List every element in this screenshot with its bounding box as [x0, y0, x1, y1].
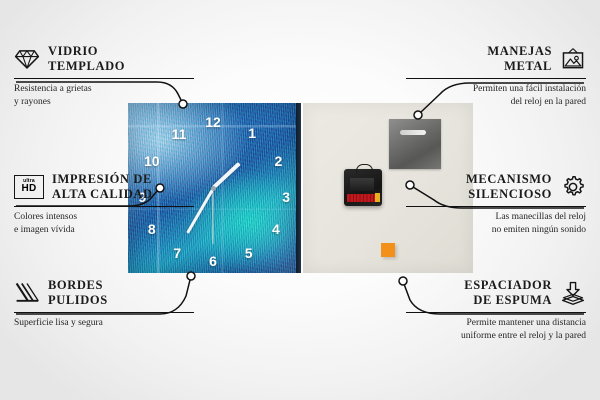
feature-title-line1: IMPRESIÓN DE — [52, 172, 153, 187]
clock-numeral-12: 12 — [205, 115, 221, 129]
feature-title-line2: DE ESPUMA — [464, 293, 552, 308]
feature-desc-line2: y rayones — [14, 96, 194, 109]
metal-hanger-plate — [389, 119, 441, 169]
clock-side-edge — [296, 103, 301, 273]
feature-title-line1: MECANISMO — [466, 172, 552, 187]
clock-numeral-5: 5 — [245, 246, 253, 260]
mechanism-battery-tip — [375, 193, 380, 202]
infographic-canvas: 12 1 2 3 4 5 6 7 8 9 10 11 — [0, 0, 600, 400]
mechanism-loop — [356, 164, 373, 173]
clock-mechanism — [344, 169, 382, 206]
feature-divider — [14, 206, 194, 208]
clock-numeral-2: 2 — [275, 154, 283, 168]
feature-title-line1: BORDES — [48, 278, 108, 293]
feature-vidrio-templado: VIDRIO TEMPLADO Resistencia a grietas y … — [14, 44, 194, 109]
polished-edges-icon — [14, 280, 40, 306]
feature-desc-line1: Permite mantener una distancia — [406, 317, 586, 330]
feature-divider — [406, 78, 586, 80]
feature-divider — [14, 78, 194, 80]
feature-title-line2: PULIDOS — [48, 293, 108, 308]
mechanism-detail — [350, 178, 374, 191]
feature-divider — [14, 312, 194, 314]
ultra-hd-icon: ultra HD — [14, 175, 44, 199]
foam-spacer-icon — [560, 280, 586, 306]
clock-numeral-6: 6 — [209, 254, 217, 268]
gear-icon — [560, 174, 586, 200]
feature-desc-line2: e imagen vívida — [14, 224, 194, 237]
feature-title-line2: ALTA CALIDAD — [52, 187, 153, 202]
ultra-hd-icon-bottom: HD — [21, 184, 36, 194]
clock-numeral-10: 10 — [144, 154, 160, 168]
hanger-slot — [400, 130, 426, 135]
feature-desc-line1: Resistencia a grietas — [14, 83, 194, 96]
feature-desc-line2: uniforme entre el reloj y la pared — [406, 330, 586, 343]
feature-manejas-metal: MANEJAS METAL Permiten una fácil instala… — [406, 44, 586, 109]
feature-divider — [406, 312, 586, 314]
clock-numeral-4: 4 — [272, 222, 280, 236]
foam-spacer — [381, 243, 395, 257]
feature-divider — [406, 206, 586, 208]
feature-title-line2: TEMPLADO — [48, 59, 125, 74]
clock-numeral-7: 7 — [173, 246, 181, 260]
feature-bordes-pulidos: BORDES PULIDOS Superficie lisa y segura — [14, 278, 194, 330]
feature-desc-line1: Las manecillas del reloj — [406, 211, 586, 224]
feature-title-line1: MANEJAS — [487, 44, 552, 59]
feature-desc-line1: Superficie lisa y segura — [14, 317, 194, 330]
mechanism-battery — [347, 194, 377, 202]
hanging-frame-icon — [560, 46, 586, 72]
feature-title-line1: VIDRIO — [48, 44, 125, 59]
feature-desc-line1: Colores intensos — [14, 211, 194, 224]
clock-center-cap — [211, 186, 216, 191]
clock-numeral-3: 3 — [282, 190, 290, 204]
feature-desc-line1: Permiten una fácil instalación — [406, 83, 586, 96]
feature-mecanismo-silencioso: MECANISMO SILENCIOSO Las manecillas del … — [406, 172, 586, 237]
diamond-icon — [14, 46, 40, 72]
feature-title-line2: METAL — [487, 59, 552, 74]
feature-title-line1: ESPACIADOR — [464, 278, 552, 293]
feature-desc-line2: no emiten ningún sonido — [406, 224, 586, 237]
feature-impresion-alta-calidad: ultra HD IMPRESIÓN DE ALTA CALIDAD Color… — [14, 172, 194, 237]
clock-numeral-1: 1 — [248, 126, 256, 140]
feature-espaciador-espuma: ESPACIADOR DE ESPUMA Permite mantener un… — [406, 278, 586, 343]
clock-numeral-11: 11 — [172, 127, 187, 141]
feature-desc-line2: del reloj en la pared — [406, 96, 586, 109]
feature-title-line2: SILENCIOSO — [466, 187, 552, 202]
